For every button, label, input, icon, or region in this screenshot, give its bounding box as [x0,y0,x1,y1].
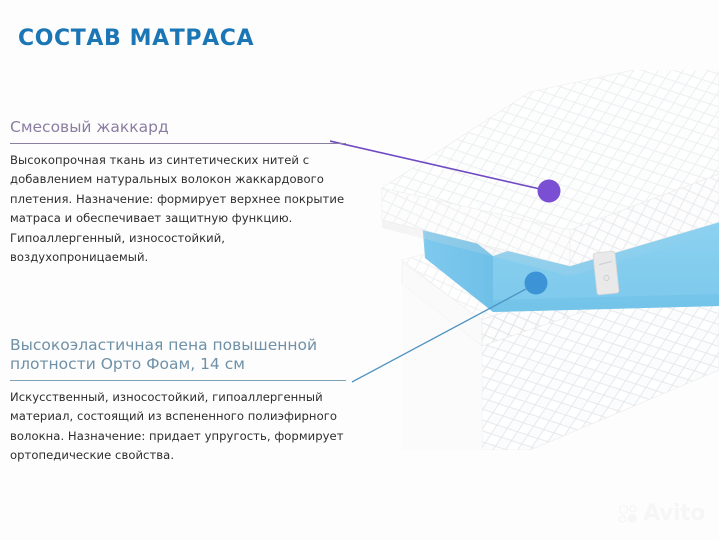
infographic-canvas: СОСТАВ МАТРАСА [0,0,719,540]
avito-logo-icon [618,504,638,524]
callout-foam: Высокоэластичная пена повышенной плотнос… [10,336,350,466]
jacquard-marker-dot[interactable] [538,180,561,203]
callout-jacquard-heading: Смесовый жаккард [10,118,350,137]
callout-jacquard-rule [10,143,346,144]
callout-foam-heading: Высокоэластичная пена повышенной плотнос… [10,336,350,374]
callout-foam-body: Искусственный, износостойкий, гипоаллерг… [10,388,350,466]
callout-foam-rule [10,380,346,381]
avito-watermark-text: Avito [643,501,705,526]
callout-jacquard-body: Высокопрочная ткань из синтетических нит… [10,151,350,267]
callout-jacquard: Смесовый жаккард Высокопрочная ткань из … [10,118,350,267]
mattress-cutaway-illustration [330,70,719,450]
care-label-tag [593,251,619,295]
page-title: СОСТАВ МАТРАСА [18,26,254,51]
avito-watermark: Avito [618,501,705,526]
foam-marker-dot[interactable] [525,272,548,295]
